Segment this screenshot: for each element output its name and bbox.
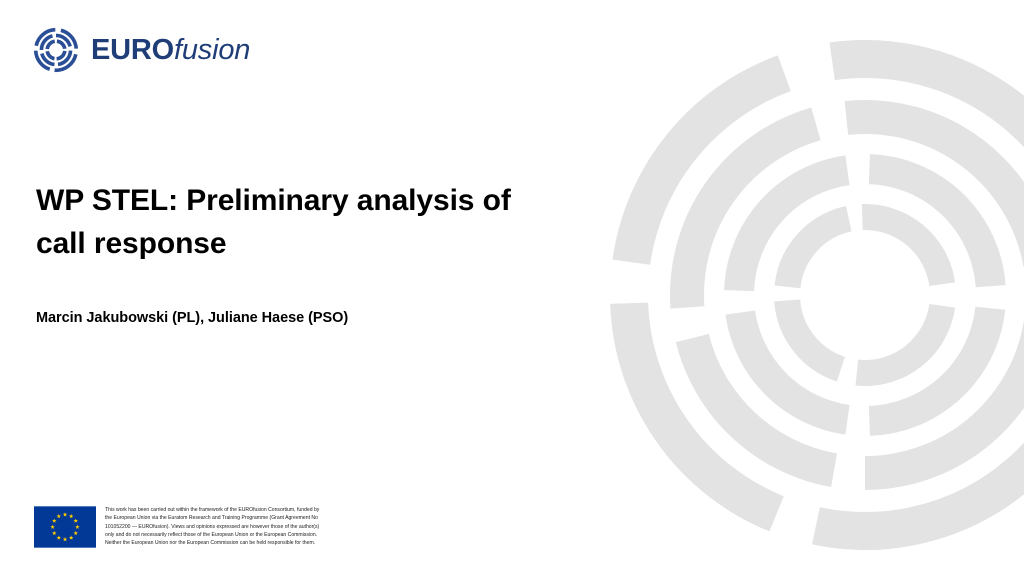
funding-line: Neither the European Union nor the Europ… [105,539,405,547]
logo-word-euro: EURO [91,34,174,66]
funding-line: only and do not necessarily reflect thos… [105,531,405,539]
concentric-rings-watermark [590,0,1024,576]
funding-line: 101052200 — EUROfusion). Views and opini… [105,523,405,531]
slide-authors: Marcin Jakubowski (PL), Juliane Haese (P… [36,310,348,326]
funding-disclaimer: This work has been carried out within th… [105,506,405,547]
slide-footer: This work has been carried out within th… [34,506,405,548]
eurofusion-ring-logo-icon [30,24,82,76]
slide-title: WP STEL: Preliminary analysis of call re… [36,180,556,265]
eurofusion-logo: EUROfusion [30,24,250,76]
eurofusion-wordmark: EUROfusion [91,36,250,65]
funding-line: This work has been carried out within th… [105,506,405,514]
presentation-slide: EUROfusion WP STEL: Preliminary analysis… [0,0,1024,576]
logo-word-fusion: fusion [174,34,250,66]
european-union-flag-icon [34,506,96,548]
funding-line: the European Union via the Euratom Resea… [105,514,405,522]
